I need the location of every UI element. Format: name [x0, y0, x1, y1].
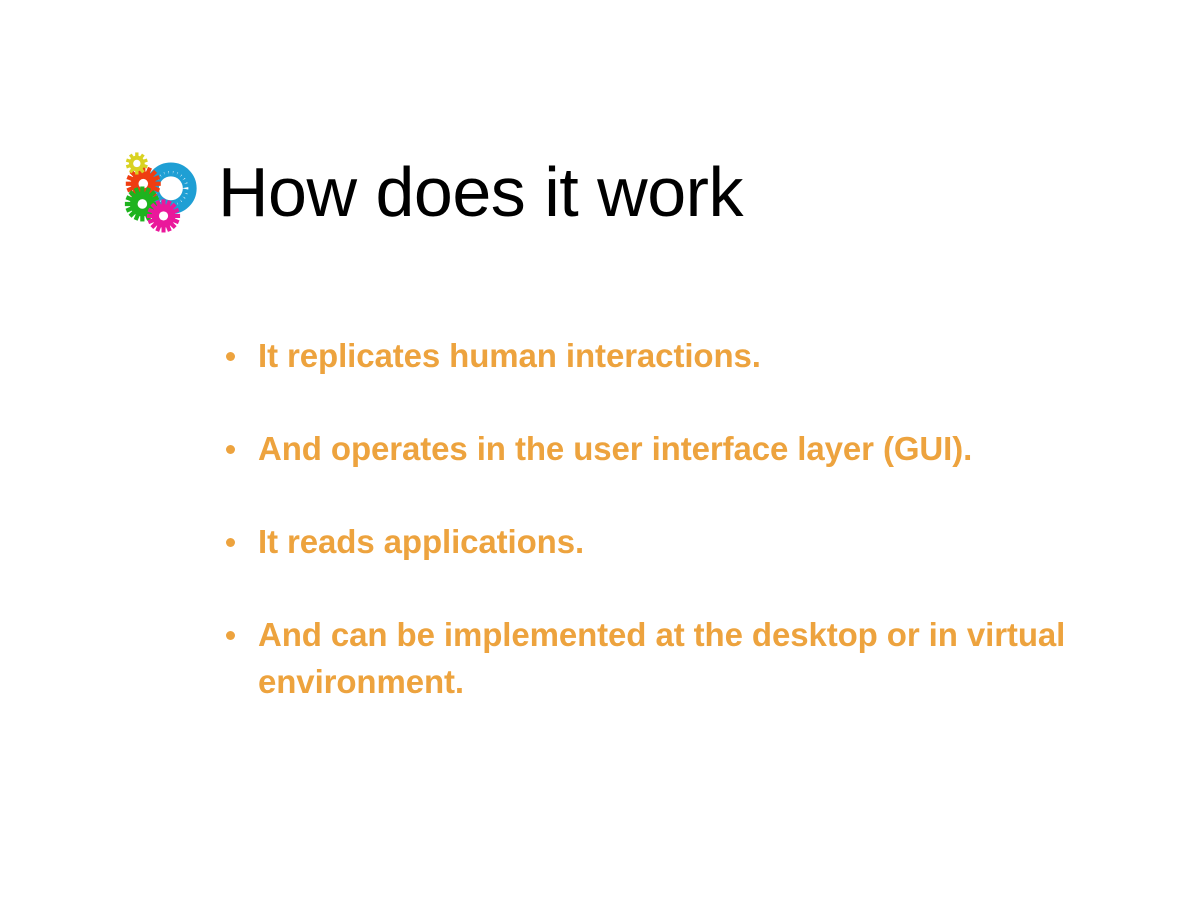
list-item-label: It reads applications.: [258, 518, 1120, 565]
slide-header: How does it work: [112, 146, 743, 238]
magenta-gear: [147, 199, 180, 232]
bullet-dot-icon: [226, 538, 235, 547]
list-item-label: It replicates human interactions.: [258, 332, 1120, 379]
bullet-dot-icon: [226, 631, 235, 640]
list-item-label: And operates in the user interface layer…: [258, 425, 1138, 472]
list-item-label: And can be implemented at the desktop or…: [258, 611, 1078, 705]
gears-cluster-icon: [112, 146, 204, 238]
bullet-list: It replicates human interactions. And op…: [220, 332, 1120, 705]
slide-canvas: How does it work It replicates human int…: [0, 0, 1199, 899]
list-item: It reads applications.: [220, 518, 1120, 565]
list-item: And can be implemented at the desktop or…: [220, 611, 1078, 705]
bullet-dot-icon: [226, 352, 235, 361]
list-item: It replicates human interactions.: [220, 332, 1120, 379]
yellow-gear: [126, 152, 147, 174]
list-item: And operates in the user interface layer…: [220, 425, 1138, 472]
page-title: How does it work: [218, 157, 743, 227]
bullet-dot-icon: [226, 445, 235, 454]
